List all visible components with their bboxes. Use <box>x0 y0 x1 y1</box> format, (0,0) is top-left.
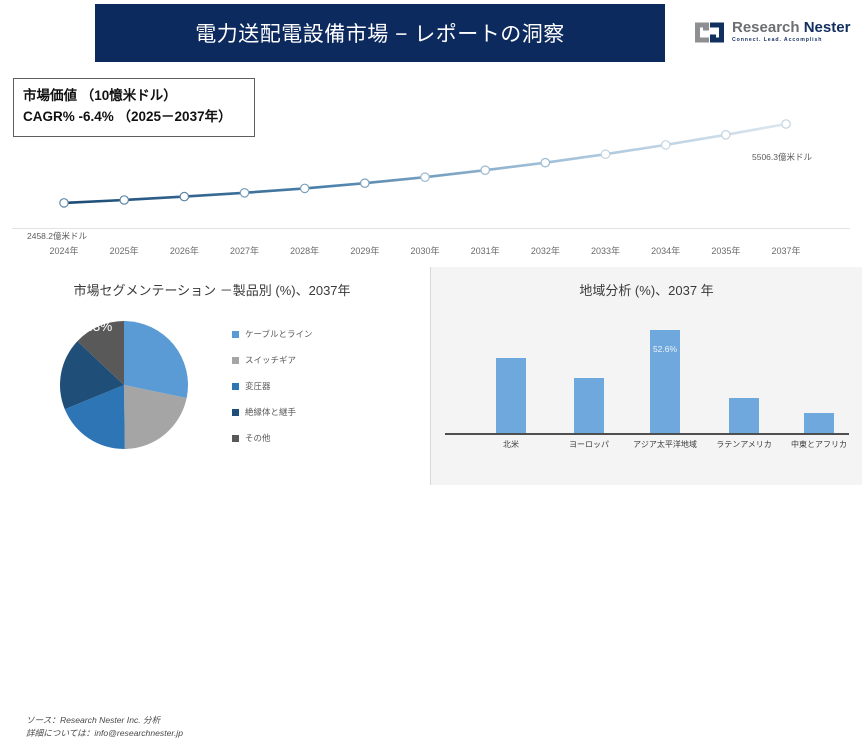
pie-legend-item[interactable]: ケーブルとライン <box>232 321 392 347</box>
logo-text: Research Nester Connect. Lead. Accomplis… <box>732 20 850 43</box>
market-value-line-chart: 2458.2億米ドル 5506.3億米ドル <box>0 62 862 267</box>
logo-title: Research Nester <box>732 20 850 35</box>
bar-column[interactable] <box>574 378 604 433</box>
source-note: ソース：Research Nester Inc. 分析 詳細については：info… <box>26 714 183 741</box>
line-data-point[interactable] <box>662 141 670 149</box>
line-chart-year-label: 2031年 <box>471 244 500 257</box>
pie-slice[interactable] <box>124 321 188 398</box>
legend-swatch-icon <box>232 331 239 338</box>
line-series-markers <box>60 120 790 207</box>
segmentation-panel: 市場セグメンテーション －製品別 (%)、2037年 28.3% ケーブルとライ… <box>0 267 424 485</box>
pie-legend-label: ケーブルとライン <box>245 328 313 340</box>
line-series-path <box>64 124 786 203</box>
pie-legend-item[interactable]: 絶縁体と継手 <box>232 399 392 425</box>
line-chart-year-label: 2024年 <box>49 244 78 257</box>
page-title: 電力送配電設備市場 − レポートの洞察 <box>195 18 564 48</box>
line-chart-year-label: 2029年 <box>350 244 379 257</box>
segmentation-pie-chart <box>58 319 190 451</box>
line-data-point[interactable] <box>180 192 188 200</box>
line-start-value-label: 2458.2億米ドル <box>27 230 87 242</box>
line-end-value-label: 5506.3億米ドル <box>752 151 812 163</box>
legend-swatch-icon <box>232 435 239 442</box>
line-chart-year-label: 2034年 <box>651 244 680 257</box>
line-chart-axis <box>12 228 850 229</box>
line-chart-year-label: 2027年 <box>230 244 259 257</box>
logo-name-first: Research <box>732 19 800 36</box>
pie-legend: ケーブルとラインスイッチギア変圧器絶縁体と継手その他 <box>232 321 392 451</box>
line-chart-year-label: 2032年 <box>531 244 560 257</box>
line-data-point[interactable] <box>240 189 248 197</box>
line-data-point[interactable] <box>421 173 429 181</box>
pie-legend-item[interactable]: スイッチギア <box>232 347 392 373</box>
line-chart-year-label: 2025年 <box>110 244 139 257</box>
legend-swatch-icon <box>232 383 239 390</box>
bar-category-label: 中東とアフリカ <box>791 439 847 450</box>
pie-legend-item[interactable]: 変圧器 <box>232 373 392 399</box>
pie-legend-item[interactable]: その他 <box>232 425 392 451</box>
line-data-point[interactable] <box>601 150 609 158</box>
regional-analysis-title: 地域分析 (%)、2037 年 <box>431 280 862 299</box>
brand-logo[interactable]: Research Nester Connect. Lead. Accomplis… <box>694 14 854 50</box>
line-chart-year-label: 2033年 <box>591 244 620 257</box>
bar-column[interactable] <box>496 358 526 433</box>
line-chart-year-label: 2035年 <box>711 244 740 257</box>
source-line-1: ソース：Research Nester Inc. 分析 <box>26 714 183 727</box>
source-line-2: 詳細については：info@researchnester.jp <box>26 727 183 740</box>
bar-chart-baseline <box>445 433 849 435</box>
line-data-point[interactable] <box>60 199 68 207</box>
line-data-point[interactable] <box>120 196 128 204</box>
regional-bar-chart: 52.6% <box>449 315 845 433</box>
header-band: 電力送配電設備市場 − レポートの洞察 <box>95 4 665 62</box>
pie-svg <box>58 319 190 451</box>
bar-category-label: ラテンアメリカ <box>716 439 772 450</box>
pie-legend-label: スイッチギア <box>245 354 296 366</box>
line-data-point[interactable] <box>722 131 730 139</box>
bar-column[interactable] <box>729 398 759 433</box>
bar-category-label: アジア太平洋地域 <box>633 439 697 450</box>
legend-swatch-icon <box>232 357 239 364</box>
research-nester-logo-icon <box>694 20 725 45</box>
bar-category-label: 北米 <box>503 439 519 450</box>
bar-chart-x-axis-labels: 北米ヨーロッパアジア太平洋地域ラテンアメリカ中東とアフリカ <box>431 439 862 453</box>
line-data-point[interactable] <box>361 179 369 187</box>
legend-swatch-icon <box>232 409 239 416</box>
line-data-point[interactable] <box>301 184 309 192</box>
line-chart-x-axis-labels: 2024年2025年2026年2027年2028年2029年2030年2031年… <box>0 244 862 258</box>
line-data-point[interactable] <box>541 159 549 167</box>
pie-legend-label: 絶縁体と継手 <box>245 406 296 418</box>
regional-analysis-panel: 地域分析 (%)、2037 年 52.6% 北米ヨーロッパアジア太平洋地域ラテン… <box>430 267 862 485</box>
line-data-point[interactable] <box>481 166 489 174</box>
line-chart-year-label: 2028年 <box>290 244 319 257</box>
line-chart-year-label: 2026年 <box>170 244 199 257</box>
pie-legend-label: その他 <box>245 432 271 444</box>
line-chart-year-label: 2037年 <box>771 244 800 257</box>
bar-value-label: 52.6% <box>653 344 677 354</box>
logo-tagline: Connect. Lead. Accomplish <box>732 38 850 43</box>
bar-column[interactable] <box>804 413 834 433</box>
line-chart-year-label: 2030年 <box>410 244 439 257</box>
pie-primary-value-label: 28.3% <box>74 319 112 334</box>
line-data-point[interactable] <box>782 120 790 128</box>
pie-legend-label: 変圧器 <box>245 380 271 392</box>
logo-name-second: Nester <box>804 19 851 36</box>
line-chart-svg <box>0 62 862 267</box>
bar-category-label: ヨーロッパ <box>569 439 609 450</box>
segmentation-title: 市場セグメンテーション －製品別 (%)、2037年 <box>0 280 424 299</box>
